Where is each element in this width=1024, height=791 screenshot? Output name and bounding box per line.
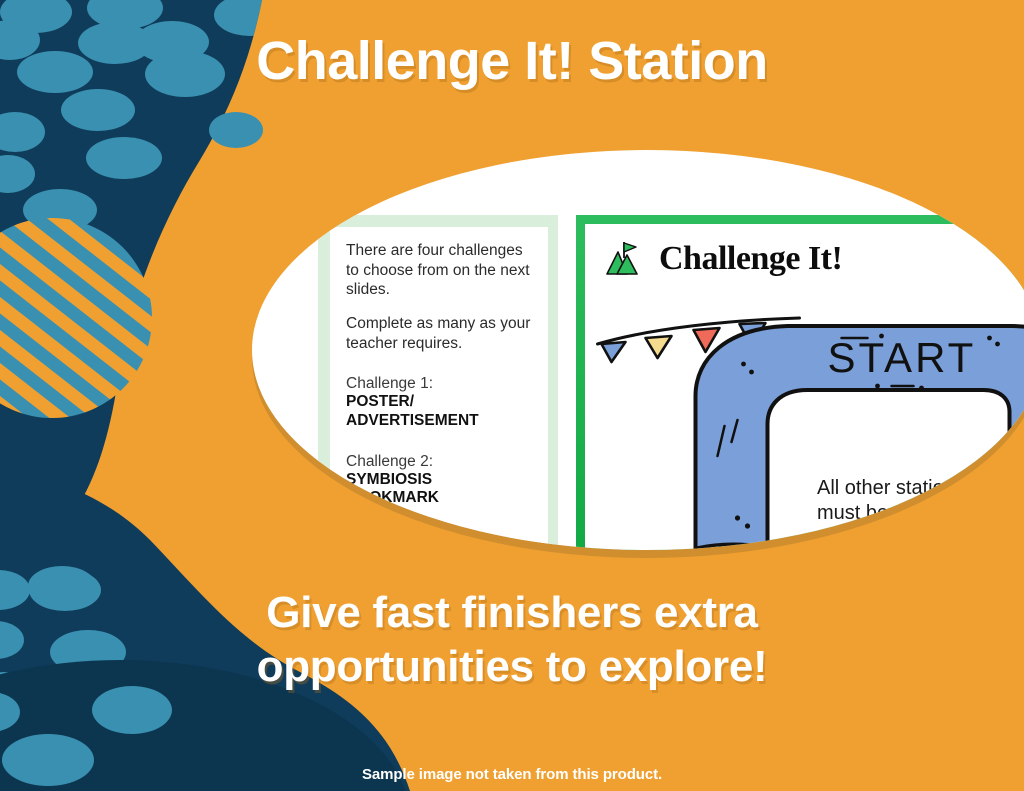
caption-line-2: must be bbox=[817, 501, 1024, 526]
page-title: Challenge It! Station bbox=[0, 30, 1024, 92]
left-slide-paragraph-2: Complete as many as your teacher require… bbox=[346, 314, 532, 353]
subtitle-line-1: Give fast finishers extra bbox=[0, 586, 1024, 640]
slide-divider bbox=[558, 215, 576, 550]
subtitle: Give fast finishers extra opportunities … bbox=[0, 586, 1024, 693]
archway-word: START bbox=[828, 334, 977, 381]
disclaimer-note: Sample image not taken from this product… bbox=[0, 766, 1024, 783]
challenge-3-label: Challenge 3: bbox=[346, 530, 532, 548]
floating-dots bbox=[150, 112, 263, 639]
challenge-2-title-line-2: BOOKMARK bbox=[346, 489, 532, 508]
slide-right: Challenge It! bbox=[576, 215, 1024, 550]
challenge-3-title: STEM bbox=[346, 548, 532, 550]
challenge-it-title: Challenge It! bbox=[659, 240, 842, 278]
poster-canvas: Challenge It! Station There are four cha… bbox=[0, 0, 1024, 791]
striped-circle bbox=[0, 200, 180, 440]
challenge-2-title-line-1: SYMBIOSIS bbox=[346, 471, 532, 490]
slide-preview-oval: There are four challenges to choose from… bbox=[252, 150, 1024, 550]
challenge-1-label: Challenge 1: bbox=[346, 375, 532, 393]
right-slide-caption: All other stations must be bbox=[817, 476, 1024, 526]
left-slide-paragraph-1: There are four challenges to choose from… bbox=[346, 241, 532, 300]
slide-deck-preview: There are four challenges to choose from… bbox=[318, 215, 1024, 550]
caption-line-1: All other stations bbox=[817, 476, 1024, 501]
mountain-flag-icon bbox=[603, 238, 645, 280]
challenge-1-title: POSTER/ ADVERTISEMENT bbox=[346, 393, 532, 430]
challenge-2-label: Challenge 2: bbox=[346, 453, 532, 471]
slide-left: There are four challenges to choose from… bbox=[318, 215, 558, 550]
subtitle-line-2: opportunities to explore! bbox=[0, 640, 1024, 694]
